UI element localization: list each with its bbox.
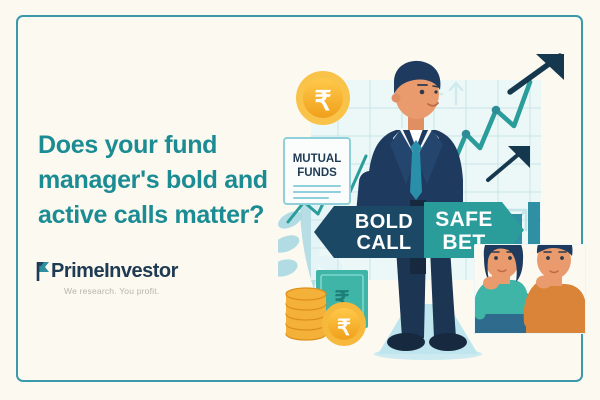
headline-line-3: active calls matter? bbox=[38, 198, 278, 233]
brand-name: PrimeInvestor bbox=[51, 260, 178, 283]
svg-text:₹: ₹ bbox=[314, 86, 331, 116]
floor-ellipse bbox=[374, 348, 482, 360]
signpost-left-line-1: BOLD bbox=[355, 211, 413, 233]
headline-line-1: Does your fund bbox=[38, 128, 278, 163]
primeinvestor-mark-icon bbox=[36, 260, 53, 282]
rupee-coin-small-icon: ₹ bbox=[322, 302, 366, 346]
promo-card: Does your fund manager's bold and active… bbox=[0, 0, 600, 400]
signpost-bold-call: BOLD CALL bbox=[314, 206, 428, 258]
rupee-coin-large-icon: ₹ bbox=[296, 71, 350, 125]
thinking-people-group bbox=[474, 233, 586, 334]
coin-stack-icon bbox=[286, 288, 326, 340]
illustration: ₹ MUTUAL FUNDS bbox=[278, 52, 588, 364]
headline: Does your fund manager's bold and active… bbox=[38, 128, 278, 233]
brand-logo: PrimeInvestor We research. You profit. bbox=[36, 259, 256, 296]
headline-line-2: manager's bold and bbox=[38, 163, 278, 198]
brand-tagline: We research. You profit. bbox=[64, 286, 256, 296]
signpost-right-line-1: SAFE bbox=[435, 208, 493, 231]
document-line-2: FUNDS bbox=[297, 167, 337, 179]
svg-text:₹: ₹ bbox=[337, 315, 351, 340]
document-line-1: MUTUAL bbox=[293, 153, 342, 165]
mutual-funds-document: MUTUAL FUNDS bbox=[284, 138, 350, 204]
signpost-left-line-2: CALL bbox=[357, 232, 412, 254]
